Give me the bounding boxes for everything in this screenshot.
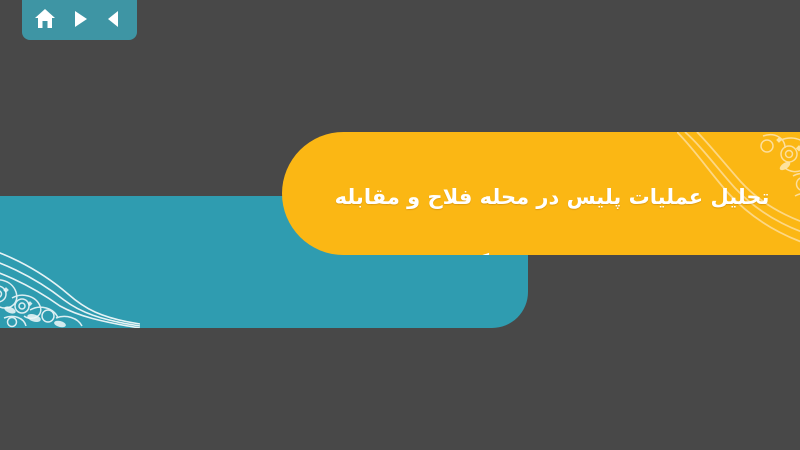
slide-title-line-1: تحلیل عملیات پلیس در محله فلاح و مقابله <box>322 180 782 214</box>
home-icon <box>33 7 57 31</box>
back-arrow-icon <box>103 8 125 30</box>
title-panel: تحلیل عملیات پلیس در محله فلاح و مقابله … <box>282 132 800 255</box>
presentation-slide: تحلیل عملیات پلیس در محله فلاح و مقابله … <box>0 0 800 450</box>
forward-arrow-icon <box>69 8 91 30</box>
slide-title: تحلیل عملیات پلیس در محله فلاح و مقابله … <box>322 146 782 255</box>
slide-title-line-2: با عناصر اخلال‌گر <box>322 248 782 255</box>
arabesque-corner-ornament <box>0 218 140 328</box>
next-slide-button[interactable] <box>65 4 95 34</box>
previous-slide-button[interactable] <box>99 4 129 34</box>
navigation-toolbar <box>22 0 137 40</box>
home-button[interactable] <box>30 4 60 34</box>
